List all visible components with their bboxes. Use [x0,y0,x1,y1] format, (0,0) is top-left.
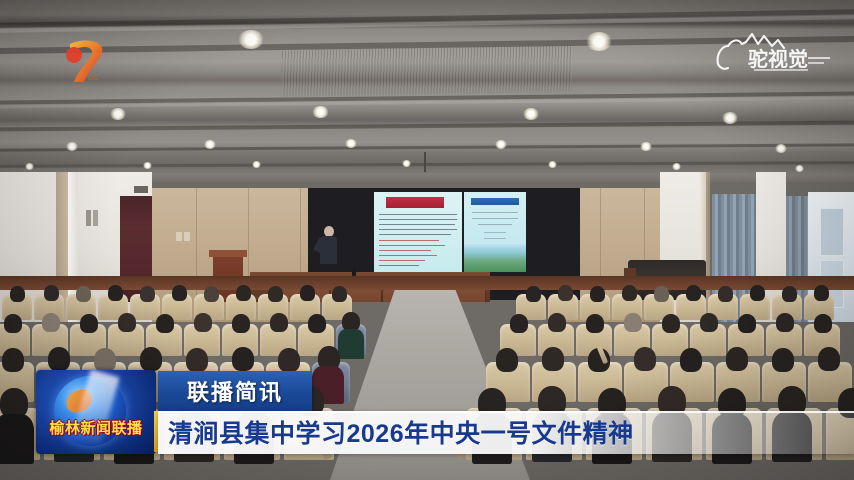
ceiling-light [252,161,261,168]
attendee-head [738,314,756,333]
station-logo: 榆林新闻联播 [36,370,156,454]
attendee-head [108,285,123,301]
attendee-head [750,285,765,301]
attendee-head [726,347,748,371]
ceiling-light [795,165,804,172]
attendee-head [48,347,70,371]
attendee-body [0,414,34,464]
attendee-head [814,285,829,301]
slide-text-line [379,234,451,235]
slide-text-line [379,265,419,266]
attendee-head [10,286,25,302]
ceiling-light [312,106,329,118]
speaker-person [318,226,338,272]
slide-text-line [379,224,455,225]
slide-text-line [379,229,457,230]
slide-right [464,192,526,272]
attendee-head [232,314,250,333]
attendee-head [308,314,326,333]
ceiling-band [0,143,854,152]
attendee-head [496,348,518,372]
slide-right-photo [464,244,526,272]
attendee-head [686,285,701,301]
wall-switch[interactable] [86,210,91,226]
attendee-body [338,329,364,359]
slide-text-line [484,232,506,233]
channel-logo-right-text: 驼视觉 [748,47,808,71]
attendee-head [590,286,605,302]
attendee-head [80,314,98,333]
attendee-head [782,286,797,302]
attendee-head [268,286,283,302]
ceiling-mesh-panel [282,45,572,97]
attendee-head [332,286,347,302]
kicker-bar: 联播简讯 [158,371,312,411]
attendee-head [2,348,24,372]
ceiling-light [548,161,557,168]
slide-left-title-bar [386,197,444,208]
attendee-head [140,286,155,302]
ceiling-light [110,108,126,120]
attendee-head [42,313,60,332]
broadcast-frame: CC 驼视觉 榆林新闻联播 联播简讯 清涧县集中学习2026年中央一号文件精神 [0,0,854,480]
attendee-head [510,314,528,333]
ceiling-band [0,161,854,168]
slide-text-line [484,238,506,239]
ceiling-light [672,163,681,170]
station-logo-label: 榆林新闻联播 [36,417,156,438]
attendee-head [814,314,832,333]
slide-text-line [379,255,437,256]
attendee-head [156,314,174,333]
ceiling-light [523,108,539,120]
podium-left-top [209,250,247,257]
svg-text:CC: CC [88,75,98,82]
attendee-head [624,313,642,332]
attendee-head [818,347,840,371]
attendee-head [558,285,573,301]
attendee-head [194,313,212,332]
ceiling-light [238,30,264,49]
slide-left [374,192,462,272]
exit-sign [134,186,148,193]
water-bottle [352,267,356,276]
slide-text-line [379,214,457,215]
slide-text-line [379,245,445,246]
ceiling-light [402,160,411,167]
attendee-head [278,348,300,372]
window-pane [820,208,844,256]
slide-right-title-bar [471,198,519,205]
attendee-head [236,285,251,301]
wall-outlet [184,232,190,241]
attendee-head [232,347,254,371]
ceiling-light [775,144,787,153]
slide-text-line [379,250,431,251]
wall-switch[interactable] [93,210,98,226]
attendee-head [44,285,59,301]
attendee-head [140,347,162,371]
attendee-head [662,314,680,333]
attendee-head [776,313,794,332]
attendee-head [172,285,187,301]
slide-text-line [478,224,512,225]
ceiling-light [143,162,152,169]
ceiling-light [640,142,652,151]
attendee-head [76,286,91,302]
headline-text: 清涧县集中学习2026年中央一号文件精神 [168,414,634,450]
attendee-head [586,314,604,333]
ceiling-light [495,140,507,149]
attendee-head [270,313,288,332]
kicker-label: 联播简讯 [187,375,283,407]
slide-text-line [379,219,457,220]
attendee-head [94,348,116,372]
attendee-head [186,348,208,372]
attendee-head [548,313,566,332]
attendee-head [680,348,702,372]
attendee-head [204,286,219,302]
attendee-head [118,313,136,332]
attendee-head [622,285,637,301]
ceiling-light [345,139,357,148]
attendee-head [542,347,564,371]
attendee-head [300,285,315,301]
attendee-head [654,286,669,302]
channel-logo-right: 驼视觉 [712,28,840,76]
wall-outlet [176,232,182,241]
attendee-head [718,286,733,302]
slide-text-line [472,212,518,213]
attendee-head [700,313,718,332]
ceiling-light [204,140,216,149]
slide-text-line [379,260,425,261]
attendee-head [4,314,22,333]
slide-text-line [379,240,439,241]
channel-logo-left: CC [62,36,108,86]
attendee-head [526,286,541,302]
ceiling-microphone-drop [424,152,426,172]
ceiling-light [25,163,34,170]
ceiling-light [66,142,78,151]
ceiling-light [586,32,612,51]
slide-text-line [472,218,518,219]
attendee-head [634,347,656,371]
attendee-head [772,348,794,372]
ceiling-light [722,112,738,124]
